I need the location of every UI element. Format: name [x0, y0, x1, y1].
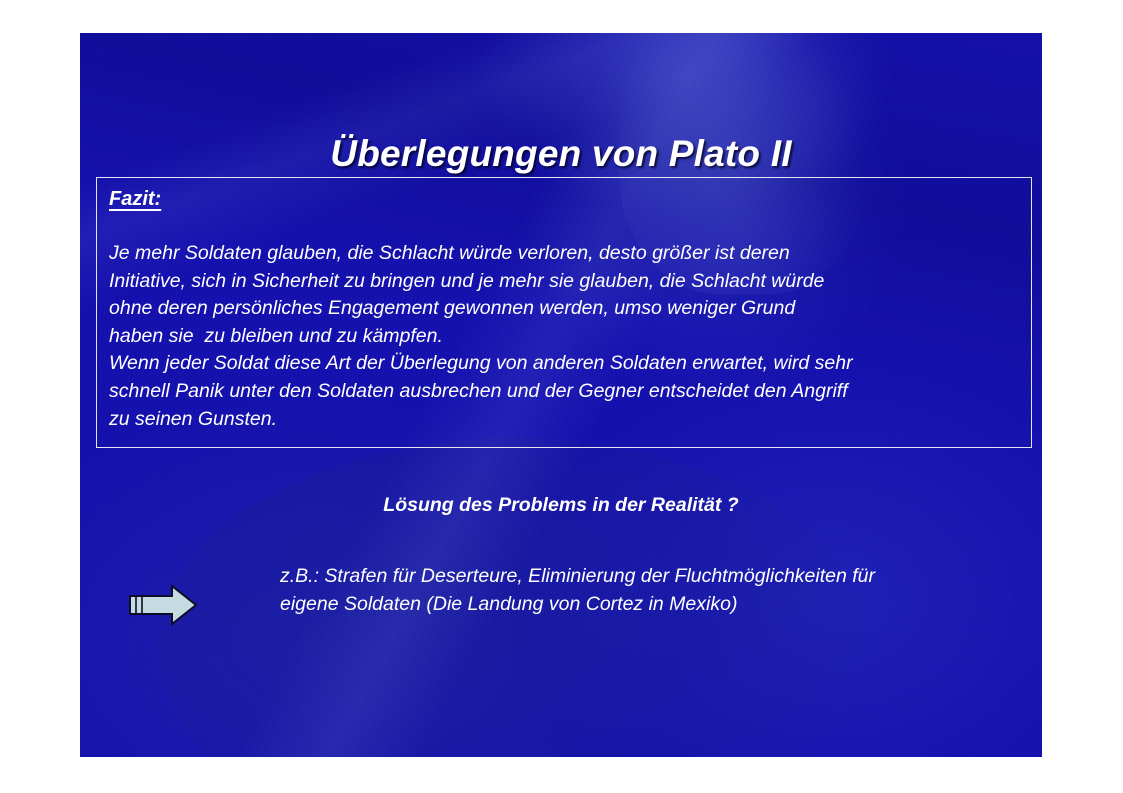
example-text: z.B.: Strafen für Deserteure, Eliminieru… [280, 562, 1018, 618]
question-line: Lösung des Problems in der Realität ? [80, 494, 1042, 517]
conclusion-body-text: Je mehr Soldaten glauben, die Schlacht w… [109, 240, 1021, 433]
conclusion-heading: Fazit: [109, 188, 161, 211]
right-arrow-icon [128, 584, 198, 626]
presentation-slide: Überlegungen von Plato II Fazit: Je mehr… [80, 33, 1042, 757]
slide-title: Überlegungen von Plato II [80, 133, 1042, 175]
conclusion-textbox: Fazit: Je mehr Soldaten glauben, die Sch… [96, 177, 1032, 448]
